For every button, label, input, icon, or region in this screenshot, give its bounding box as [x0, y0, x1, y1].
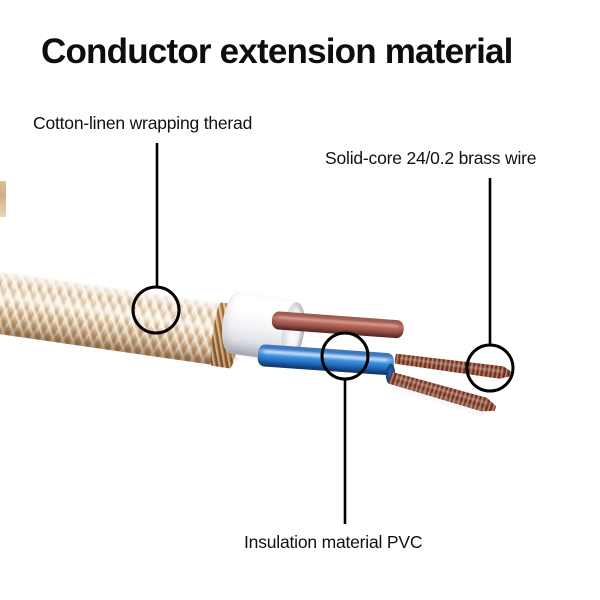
- braided-sheath: [0, 262, 252, 390]
- cable-photograph: [0, 0, 600, 600]
- callout-label-pvc: Insulation material PVC: [244, 531, 422, 553]
- callout-label-cotton-linen: Cotton-linen wrapping therad: [33, 112, 252, 134]
- callout-label-brass-wire: Solid-core 24/0.2 brass wire: [325, 147, 536, 169]
- page-title: Conductor extension material: [41, 30, 581, 74]
- product-infographic: Conductor extension material Cotton-line…: [0, 0, 600, 600]
- left-edge-artifact: [0, 181, 6, 217]
